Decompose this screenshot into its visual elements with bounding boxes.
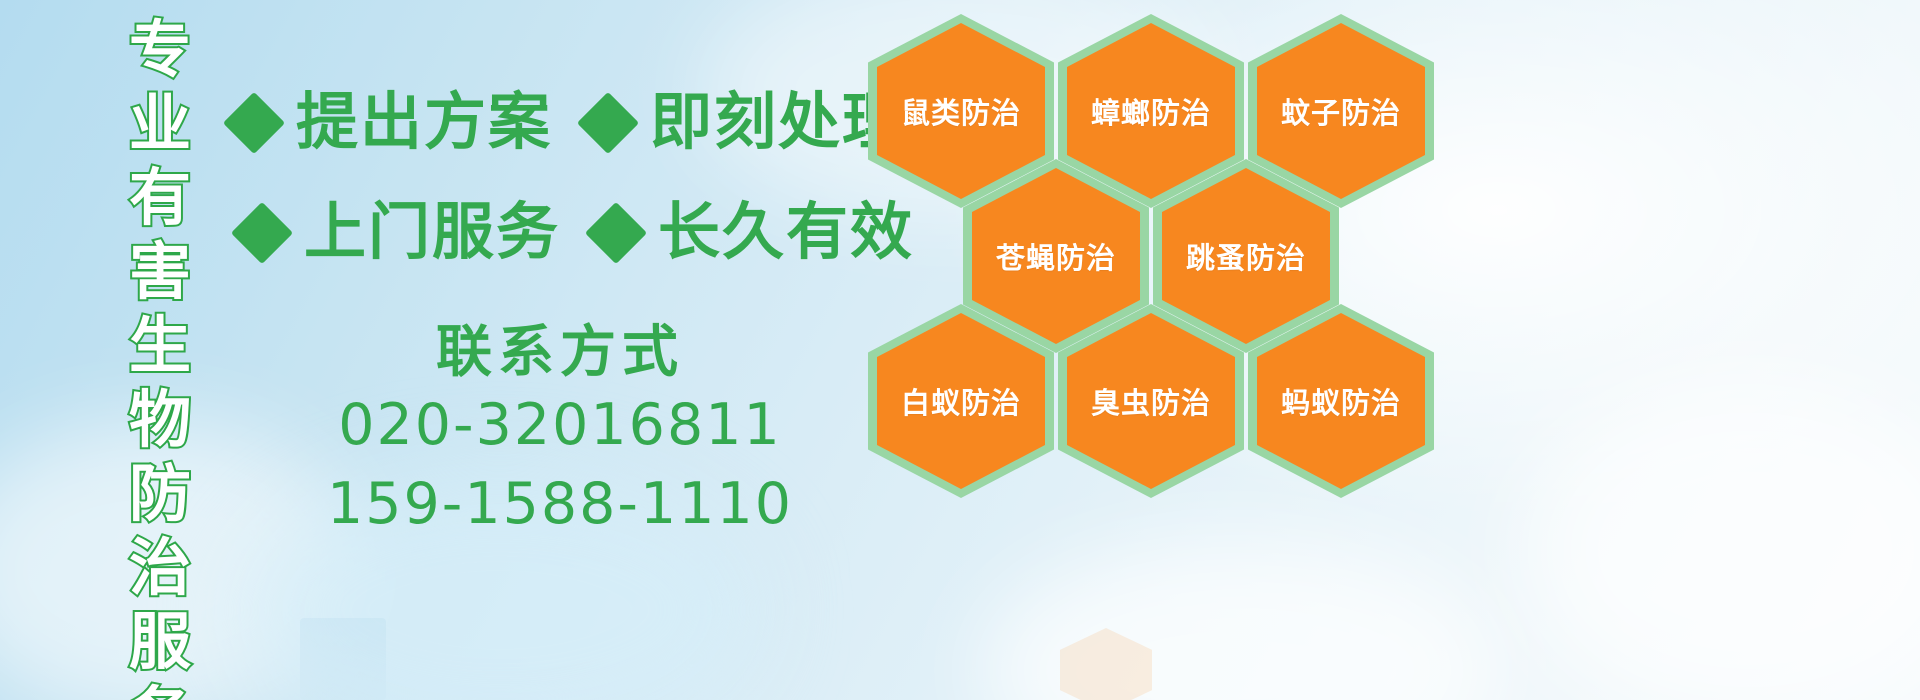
- service-label: 蚊子防治: [1281, 90, 1401, 132]
- hexagon-inner: 蚊子防治: [1257, 23, 1425, 199]
- diamond-icon: [577, 92, 639, 154]
- vertical-title-char: 业: [129, 88, 191, 162]
- diamond-icon: [223, 92, 285, 154]
- service-label: 臭虫防治: [1091, 380, 1211, 422]
- vertical-title: 专 业 有 害 生 物 防 治 服 务: [112, 14, 208, 686]
- hexagon-inner: 跳蚤防治: [1162, 168, 1330, 344]
- contact-block: 联系方式 020-32016811 159-1588-1110: [300, 318, 820, 544]
- service-label: 蟑螂防治: [1091, 90, 1211, 132]
- service-label: 苍蝇防治: [996, 235, 1116, 277]
- slogan-item: 即刻处理: [586, 92, 906, 154]
- phone-number-landline[interactable]: 020-32016811: [300, 386, 820, 465]
- service-label: 蚂蚁防治: [1281, 380, 1401, 422]
- slogan-label: 提出方案: [296, 92, 552, 154]
- diamond-icon: [585, 202, 647, 264]
- vertical-title-char: 治: [129, 532, 191, 606]
- diamond-icon: [231, 202, 293, 264]
- service-label: 跳蚤防治: [1186, 235, 1306, 277]
- vertical-title-char: 物: [129, 384, 191, 458]
- service-honeycomb: 鼠类防治 蟑螂防治 蚊子防治 苍蝇防治 跳蚤防治 白蚁防治: [862, 0, 1462, 580]
- service-label: 鼠类防治: [901, 90, 1021, 132]
- pest-control-banner: 专 业 有 害 生 物 防 治 服 务 提出方案 即刻处理 上门服务 长久有效: [0, 0, 1920, 700]
- vertical-title-char: 服: [129, 606, 191, 680]
- vertical-title-char: 专: [129, 14, 191, 88]
- decorative-shape: [300, 618, 386, 700]
- vertical-title-char: 生: [129, 310, 191, 384]
- hexagon-inner: 白蚁防治: [877, 313, 1045, 489]
- slogan-label: 上门服务: [304, 202, 560, 264]
- hexagon-inner: 蚂蚁防治: [1257, 313, 1425, 489]
- hexagon-inner: 蟑螂防治: [1067, 23, 1235, 199]
- vertical-title-char: 有: [129, 162, 191, 236]
- vertical-title-char: 防: [129, 458, 191, 532]
- hexagon-inner: 鼠类防治: [877, 23, 1045, 199]
- contact-heading: 联系方式: [300, 318, 820, 386]
- background-blob: [1520, 380, 1920, 700]
- decorative-hexagon: [1060, 628, 1152, 700]
- phone-number-mobile[interactable]: 159-1588-1110: [300, 465, 820, 544]
- hexagon-inner: 臭虫防治: [1067, 313, 1235, 489]
- vertical-title-char: 害: [129, 236, 191, 310]
- slogan-item: 提出方案: [232, 92, 552, 154]
- vertical-title-char: 务: [129, 680, 191, 700]
- hexagon-inner: 苍蝇防治: [972, 168, 1140, 344]
- slogan-row-1: 提出方案 即刻处理: [232, 92, 906, 154]
- slogan-item: 上门服务: [240, 202, 560, 264]
- service-label: 白蚁防治: [901, 380, 1021, 422]
- slogan-row-2: 上门服务 长久有效: [240, 202, 914, 264]
